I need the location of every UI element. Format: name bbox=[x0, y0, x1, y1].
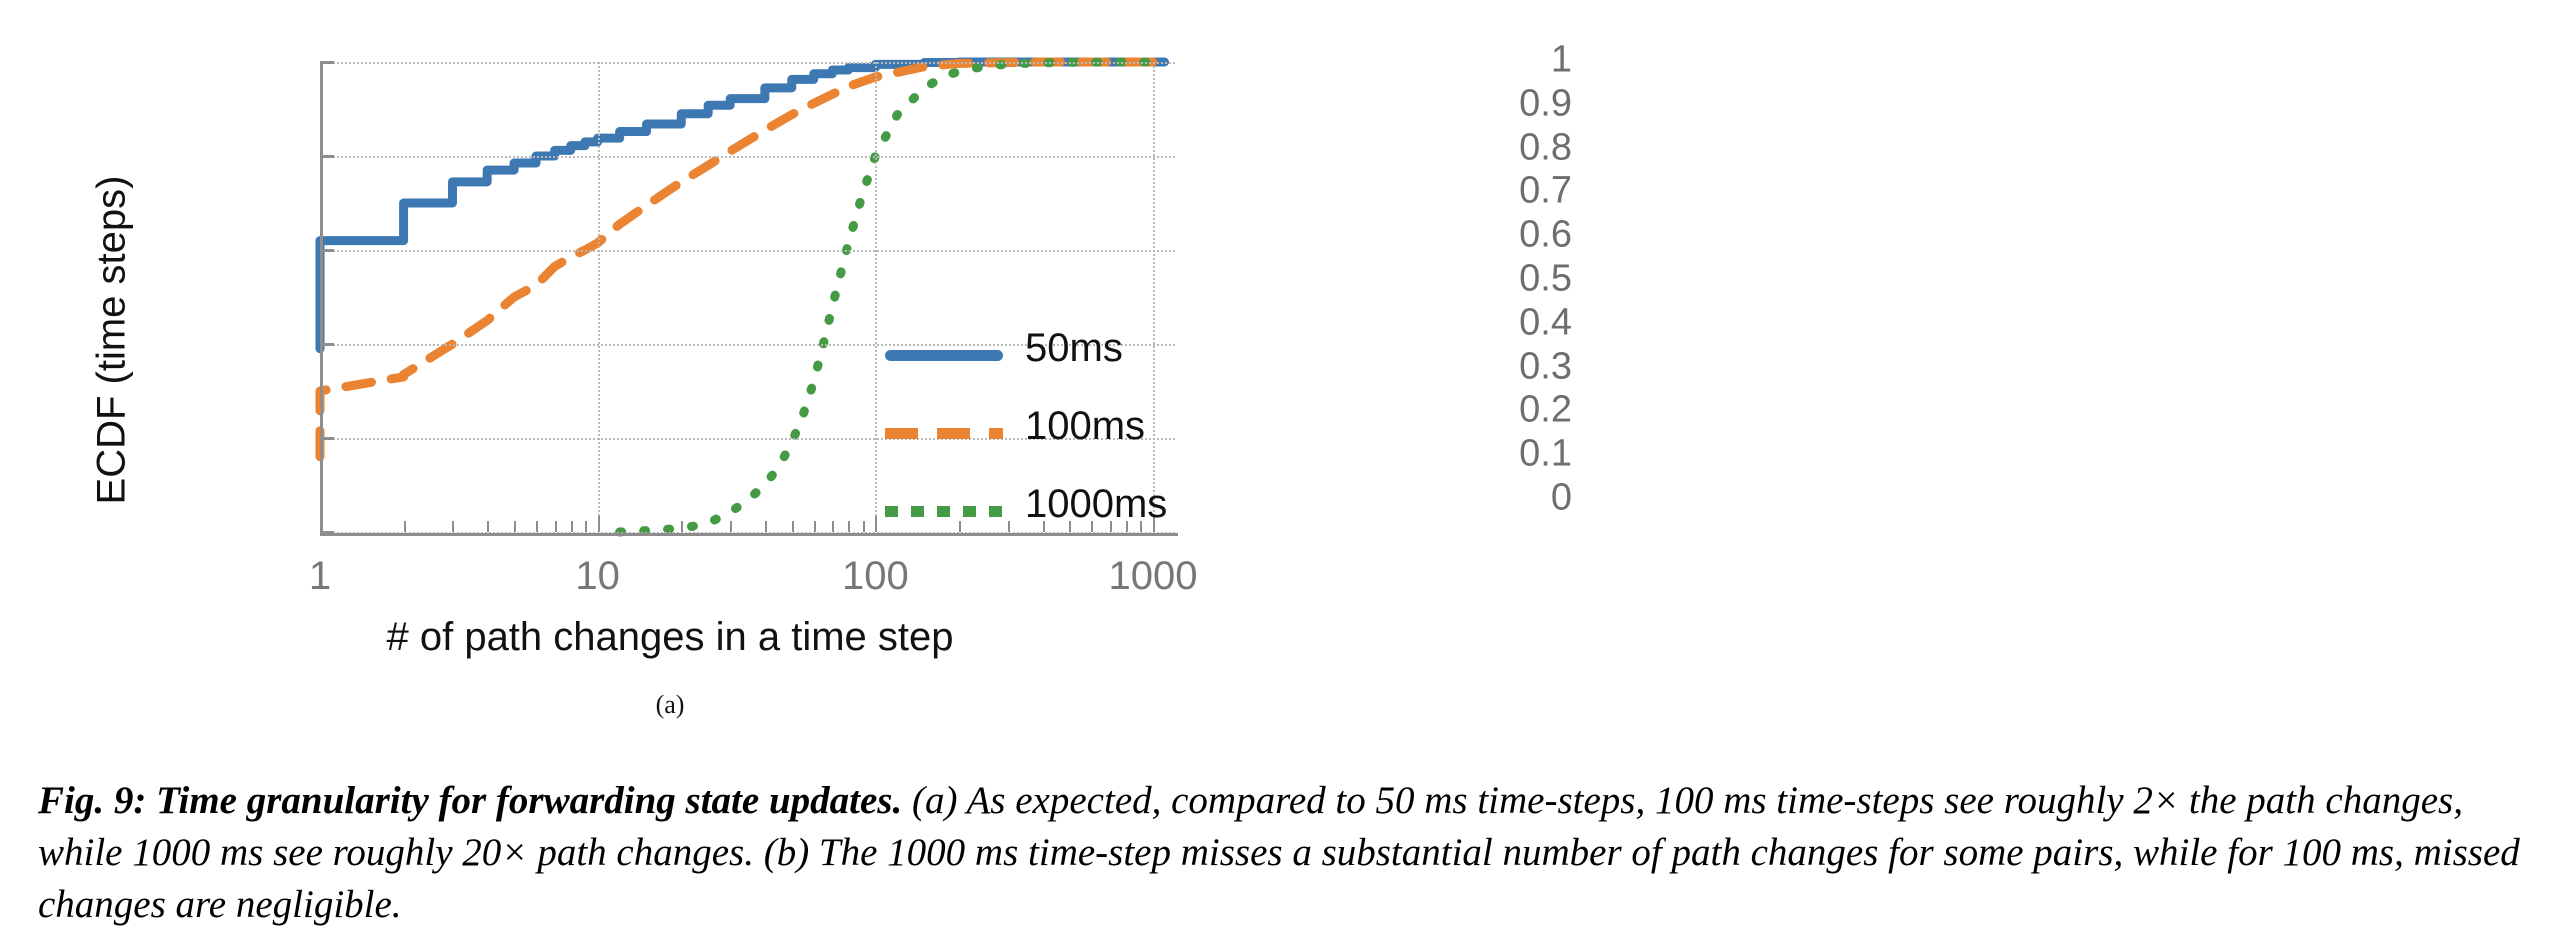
chart-a-gridline-v bbox=[598, 62, 600, 532]
chart-a-legend-item[interactable]: 100ms bbox=[885, 400, 1215, 478]
chart-a-x-tick-mark bbox=[832, 521, 834, 532]
chart-a-ecdf: ECDF (time steps) # of path changes in a… bbox=[0, 0, 1300, 760]
chart-a-x-tick-mark bbox=[765, 521, 767, 532]
chart-a-y-tick-mark bbox=[320, 343, 334, 346]
chart-b-y-tick-label: 0.7 bbox=[1519, 170, 1572, 213]
chart-a-gridline-h bbox=[320, 62, 1175, 64]
chart-b-y-tick-label: 0.2 bbox=[1519, 389, 1572, 432]
chart-a-legend-swatch-1000ms bbox=[885, 506, 1003, 517]
chart-a-x-tick-label: 1000 bbox=[1109, 554, 1198, 599]
chart-a-gridline-h bbox=[320, 156, 1175, 158]
caption-figure-number: Fig. 9: bbox=[38, 779, 146, 822]
chart-b-y-tick-label: 0.3 bbox=[1519, 345, 1572, 388]
chart-a-y-tick-mark bbox=[320, 155, 334, 158]
chart-a-series-50ms bbox=[320, 62, 1165, 349]
chart-a-gridline-v bbox=[875, 62, 877, 532]
chart-a-x-tick-label: 10 bbox=[575, 554, 620, 599]
chart-a-x-tick-mark bbox=[863, 521, 865, 532]
chart-b-y-tick-label: 0.9 bbox=[1519, 82, 1572, 125]
chart-b-y-tick-label: 0.4 bbox=[1519, 301, 1572, 344]
chart-b-y-tick-label: 0 bbox=[1551, 477, 1572, 520]
chart-a-legend-label: 100ms bbox=[1025, 404, 1145, 449]
chart-a-y-tick-mark bbox=[320, 61, 334, 64]
chart-b-y-tick-label: 0.8 bbox=[1519, 126, 1572, 169]
chart-a-legend-swatch-50ms bbox=[885, 350, 1003, 361]
chart-b-y-tick-label: 1 bbox=[1551, 39, 1572, 82]
chart-b-y-tick-label: 0.1 bbox=[1519, 433, 1572, 476]
chart-a-x-tick-mark bbox=[875, 516, 877, 532]
chart-a-x-tick-mark bbox=[404, 521, 406, 532]
chart-a-x-tick-mark bbox=[730, 521, 732, 532]
chart-a-legend-label: 50ms bbox=[1025, 326, 1123, 371]
chart-a-x-tick-mark bbox=[598, 516, 600, 532]
figure-page: ECDF (time steps) # of path changes in a… bbox=[0, 0, 2556, 930]
chart-a-legend-item[interactable]: 1000ms bbox=[885, 478, 1215, 556]
chart-a-y-axis-label: ECDF (time steps) bbox=[90, 176, 135, 505]
chart-a-y-tick-mark bbox=[320, 249, 334, 252]
chart-a-legend-swatch-100ms bbox=[885, 428, 1003, 439]
panel-a-label: (a) bbox=[600, 690, 740, 720]
chart-a-x-tick-mark bbox=[792, 521, 794, 532]
chart-a-x-tick-mark bbox=[681, 521, 683, 532]
chart-a-y-tick-mark bbox=[320, 437, 334, 440]
chart-b-y-tick-label: 0.5 bbox=[1519, 258, 1572, 301]
chart-a-x-tick-label: 1 bbox=[309, 554, 331, 599]
chart-b-y-tick-label: 0.6 bbox=[1519, 214, 1572, 257]
chart-a-x-axis-label: # of path changes in a time step bbox=[386, 615, 953, 660]
chart-a-x-tick-mark bbox=[814, 521, 816, 532]
caption-title: Time granularity for forwarding state up… bbox=[156, 779, 902, 822]
chart-a-gridline-h bbox=[320, 250, 1175, 252]
chart-a-x-tick-mark bbox=[571, 521, 573, 532]
chart-a-x-tick-label: 100 bbox=[842, 554, 909, 599]
chart-a-x-tick-mark bbox=[555, 521, 557, 532]
chart-a-x-tick-mark bbox=[536, 521, 538, 532]
chart-a-legend-item[interactable]: 50ms bbox=[885, 322, 1215, 400]
chart-b-bars: Fraction of pairs Time step 00.10.20.30.… bbox=[1290, 0, 2556, 760]
chart-a-legend-label: 1000ms bbox=[1025, 482, 1167, 527]
chart-a-x-tick-mark bbox=[585, 521, 587, 532]
chart-a-x-tick-mark bbox=[514, 521, 516, 532]
chart-a-y-axis-line bbox=[320, 62, 323, 535]
chart-a-x-tick-mark bbox=[452, 521, 454, 532]
chart-a-y-tick-mark bbox=[320, 531, 334, 534]
chart-a-x-tick-mark bbox=[487, 521, 489, 532]
chart-a-x-tick-mark bbox=[848, 521, 850, 532]
chart-a-legend: 50ms100ms1000ms bbox=[885, 322, 1215, 556]
figure-caption: Fig. 9: Time granularity for forwarding … bbox=[38, 775, 2528, 931]
chart-a-x-tick-mark bbox=[320, 516, 322, 532]
